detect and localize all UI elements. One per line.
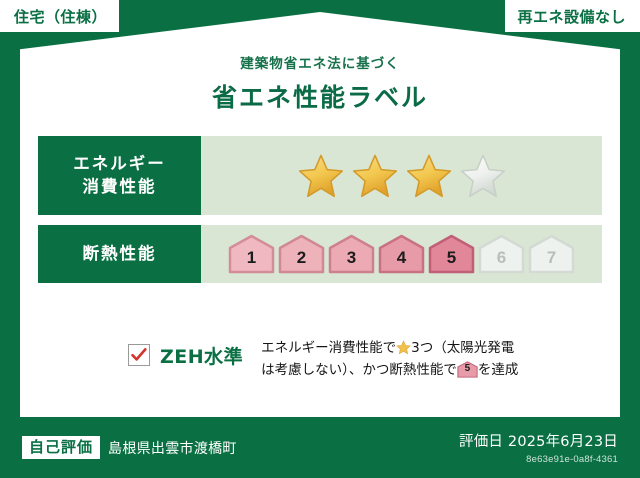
zeh-desc-part3: を達成 <box>478 362 519 378</box>
energy-performance-row: エネルギー 消費性能 <box>38 136 602 215</box>
self-evaluation-badge: 自己評価 <box>22 436 100 460</box>
zeh-desc-part1: エネルギー消費性能で <box>261 340 396 356</box>
insulation-grade-badge-4: 4 <box>378 234 425 274</box>
heading-block: 建築物省エネ法に基づく 省エネ性能ラベル <box>0 52 640 114</box>
insulation-grade-number: 5 <box>447 248 456 274</box>
star-icon <box>396 340 411 355</box>
zeh-title: ZEH水準 <box>160 342 243 369</box>
zeh-description: エネルギー消費性能で3つ（太陽光発電 は考慮しない）、かつ断熱性能で5を達成 <box>261 338 518 381</box>
insulation-grade-number: 7 <box>547 248 556 274</box>
check-icon <box>130 346 148 364</box>
label-identifier: 8e63e91e-0a8f-4361 <box>459 454 618 465</box>
property-address: 島根県出雲市渡橋町 <box>108 438 237 458</box>
star-empty-icon <box>459 153 507 199</box>
insulation-grade-badge-6: 6 <box>478 234 525 274</box>
insulation-performance-row: 断熱性能 1234567 <box>38 225 602 283</box>
energy-performance-label: 住宅（住棟） 再エネ設備なし 建築物省エネ法に基づく 省エネ性能ラベル エネルギ… <box>0 0 640 478</box>
rating-rows: エネルギー 消費性能 断熱性能 1234567 <box>38 136 602 283</box>
zeh-standard-note: ZEH水準 エネルギー消費性能で3つ（太陽光発電 は考慮しない）、かつ断熱性能で… <box>128 338 518 381</box>
energy-label-line2: 消費性能 <box>83 176 157 198</box>
label-title: 省エネ性能ラベル <box>0 78 640 114</box>
insulation-grade-badge-7: 7 <box>528 234 575 274</box>
insulation-performance-label: 断熱性能 <box>38 225 201 283</box>
insulation-grade-number: 2 <box>297 248 306 274</box>
star-filled-icon <box>405 153 453 199</box>
label-subtitle: 建築物省エネ法に基づく <box>0 52 640 72</box>
insulation-grade-number: 6 <box>497 248 506 274</box>
star-rating <box>201 136 602 215</box>
footer-left-group: 自己評価 島根県出雲市渡橋町 <box>22 436 237 460</box>
insulation-grade-number: 1 <box>247 248 256 274</box>
zeh-checkbox <box>128 344 150 366</box>
renewable-energy-tag: 再エネ設備なし <box>505 0 640 32</box>
star-filled-icon <box>351 153 399 199</box>
energy-label-line1: エネルギー <box>73 153 166 175</box>
footer-right-group: 評価日 2025年6月23日 8e63e91e-0a8f-4361 <box>459 430 618 465</box>
insulation-grade-badge-2: 2 <box>278 234 325 274</box>
insulation-grade-number: 4 <box>397 248 406 274</box>
zeh-desc-part2: は考慮しない）、かつ断熱性能で <box>261 362 457 378</box>
insulation-label-line1: 断熱性能 <box>83 243 157 265</box>
label-footer: 自己評価 島根県出雲市渡橋町 評価日 2025年6月23日 8e63e91e-0… <box>0 417 640 478</box>
insulation-grade-number: 3 <box>347 248 356 274</box>
inline-grade-number: 5 <box>457 361 478 378</box>
evaluation-date: 評価日 2025年6月23日 <box>459 430 618 451</box>
insulation-grade-badge-5: 5 <box>428 234 475 274</box>
insulation-grade-badge-1: 1 <box>228 234 275 274</box>
insulation-grade-inline-badge: 5 <box>457 361 478 378</box>
energy-performance-label: エネルギー 消費性能 <box>38 136 201 215</box>
insulation-grade-badge-3: 3 <box>328 234 375 274</box>
star-filled-icon <box>297 153 345 199</box>
insulation-grade-scale: 1234567 <box>201 225 602 283</box>
building-type-tag: 住宅（住棟） <box>0 0 119 32</box>
zeh-desc-stars: 3つ（太陽光発電 <box>411 340 514 356</box>
